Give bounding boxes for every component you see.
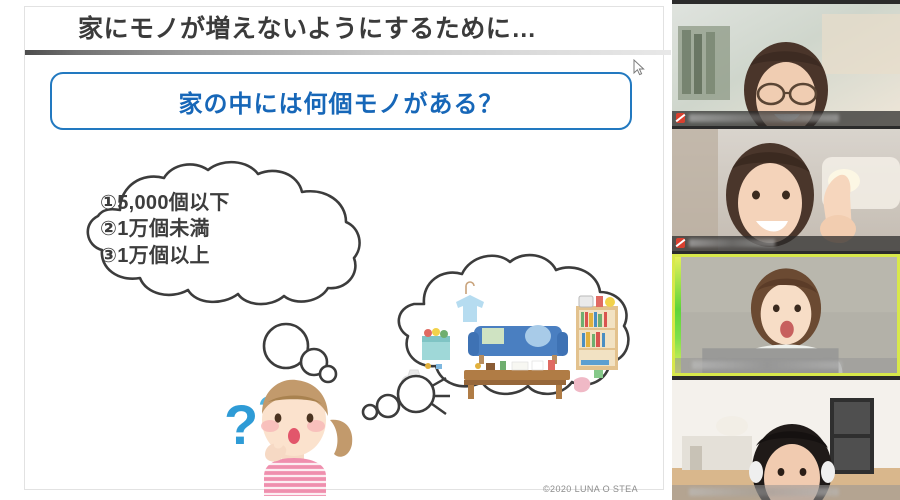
video-feed-2 [672,129,900,251]
screen-root: 家にモノが増えないようにするために… 家の中には何個モノがある？ ①5,000個… [0,0,900,500]
answer-choice-2: ②1万個未満 [100,216,350,242]
video-tile-participant-4[interactable] [672,380,900,500]
question-text: 家の中には何個モノがある？ [52,74,630,128]
mic-muted-icon-1 [676,113,685,123]
video-feed-1 [672,4,900,126]
answer-choices-list: ①5,000個以下 ②1万個未満 ③1万個以上 [100,190,350,269]
video-tile-participant-2[interactable] [672,129,900,251]
question-box: 家の中には何個モノがある？ [50,72,632,130]
thinking-woman-illustration [212,368,372,496]
participant-name-label-4 [689,488,839,496]
participant-name-label-2 [689,239,775,247]
video-tile-participant-3[interactable] [672,254,900,376]
participant-name-label-1 [689,114,839,122]
video-feed-4 [672,380,900,500]
shared-slide-area: 家にモノが増えないようにするために… 家の中には何個モノがある？ ①5,000個… [0,0,672,500]
answers-thought-cloud: ①5,000個以下 ②1万個未満 ③1万個以上 [58,158,388,323]
slide-title: 家にモノが増えないようにするために… [78,12,598,46]
participant-name-label-3 [692,361,842,369]
answer-choice-1: ①5,000個以下 [100,190,350,216]
active-speaker-glow [675,257,681,373]
answer-choice-3: ③1万個以上 [100,243,350,269]
video-feed-3 [675,257,897,373]
name-bar-3 [675,358,897,373]
mouse-cursor [633,59,645,76]
copyright-notice: ©2020 LUNA O STEA [543,484,638,494]
video-tile-participant-1[interactable] [672,4,900,126]
name-bar-2 [672,236,900,251]
participant-video-panel[interactable] [672,0,900,500]
mic-muted-icon-2 [676,238,685,248]
title-divider-rule [25,50,671,55]
name-bar-4 [672,485,900,500]
name-bar-1 [672,111,900,126]
illustration-bookshelf [576,296,618,370]
